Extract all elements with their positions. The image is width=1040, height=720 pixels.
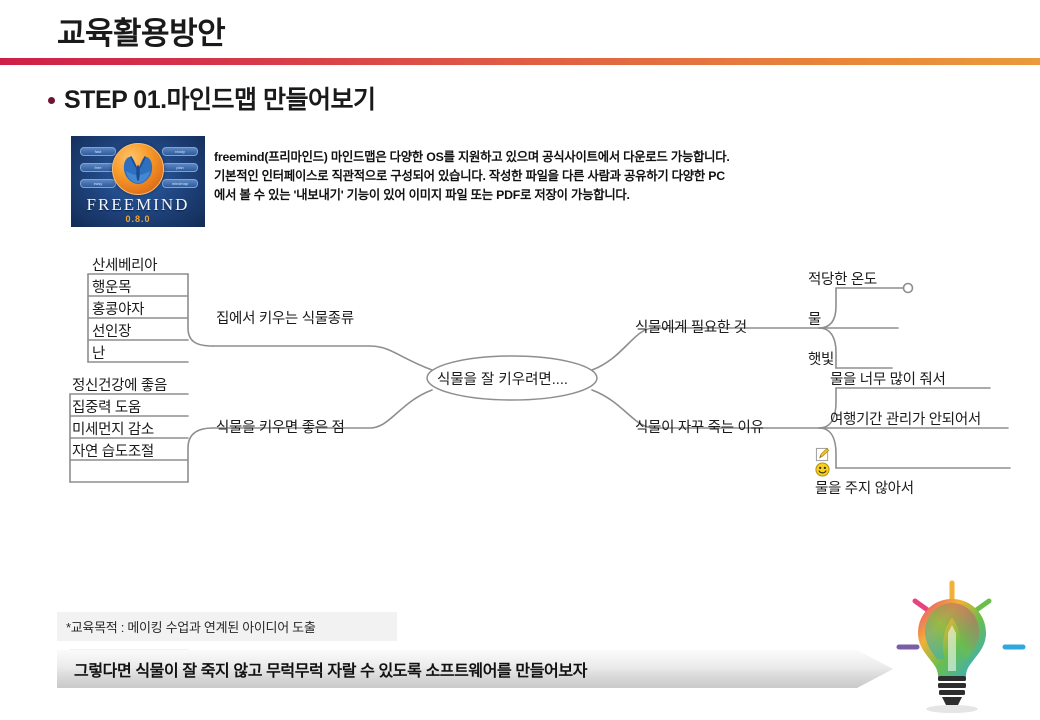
conclusion-banner: 그렇다면 식물이 잘 죽지 않고 무럭무럭 자랄 수 있도록 소프트웨어를 만들… [57,650,893,688]
freemind-logo: fast free easy ready plan mindmap FREEMI… [70,135,206,228]
step-heading-label: STEP 01.마인드맵 만들어보기 [64,80,376,116]
logo-pill-easy: easy [80,179,116,188]
description-line-3: 에서 볼 수 있는 '내보내기' 기능이 있어 이미지 파일 또는 PDF로 저… [214,186,854,205]
description-line-2: 기본적인 인터페이스로 직관적으로 구성되어 있습니다. 작성한 파일을 다른 … [214,167,854,186]
mindmap-leaf-plant-types-2[interactable]: 홍콩야자 [92,298,144,319]
purpose-note-text: *교육목적 : 메이킹 수업과 연계된 아이디어 도출 [66,617,315,636]
mindmap-leaf-plant-types-3[interactable]: 선인장 [92,320,131,341]
lightbulb-icon [885,575,1035,717]
logo-pill-fast: fast [80,147,116,156]
logo-version: 0.8.0 [71,214,205,224]
logo-pill-plan: plan [162,163,198,172]
mindmap-branch-plant-benefits[interactable]: 식물을 키우면 좋은 점 [216,416,345,437]
note-pencil-icon [815,447,830,462]
mindmap-leaf-death-reasons-2-row[interactable]: 물을 주지 않아서 [815,447,914,498]
mindmap-leaf-death-reasons-2: 물을 주지 않아서 [815,481,914,497]
mindmap-leaf-plant-types-4[interactable]: 난 [92,342,105,363]
logo-orb [112,143,164,195]
freemind-description: freemind(프리마인드) 마인드맵은 다양한 OS를 지원하고 있으며 공… [214,148,854,205]
logo-pill-mindmap: mindmap [162,179,198,188]
mindmap-leaf-plant-benefits-2[interactable]: 미세먼지 감소 [72,418,154,439]
title-divider-rule [0,58,1040,65]
page-title: 교육활용방안 [57,8,225,53]
purpose-note: *교육목적 : 메이킹 수업과 연계된 아이디어 도출 [57,612,397,641]
mindmap-leaf-death-reasons-0[interactable]: 물을 너무 많이 줘서 [830,368,946,389]
mindmap-leaf-death-reasons-1[interactable]: 여행기간 관리가 안되어서 [830,408,981,429]
node-endpoint-dot [904,284,913,293]
butterfly-icon [119,151,157,187]
smiley-icon [815,462,830,477]
logo-pill-free: free [80,163,116,172]
logo-wordmark: FREEMIND [71,195,205,215]
lightbulb-graphic [885,575,1035,717]
mindmap-leaf-plant-types-1[interactable]: 행운목 [92,276,131,297]
mindmap-leaf-plant-benefits-1[interactable]: 집중력 도움 [72,396,141,417]
mindmap-branch-plant-types[interactable]: 집에서 키우는 식물종류 [216,307,354,328]
mindmap-branch-death-reasons[interactable]: 식물이 자꾸 죽는 이유 [635,416,764,437]
slide-root: 교육활용방안 STEP 01.마인드맵 만들어보기 fast free easy… [0,0,1040,720]
mindmap-leaf-plant-needs-2[interactable]: 햇빛 [808,348,834,369]
mindmap-leaf-plant-needs-0[interactable]: 적당한 온도 [808,268,877,289]
mindmap-diagram: 식물을 잘 키우려면.... 집에서 키우는 식물종류 산세베리아 행운목 홍콩… [40,250,1030,570]
conclusion-banner-text: 그렇다면 식물이 잘 죽지 않고 무럭무럭 자랄 수 있도록 소프트웨어를 만들… [74,657,587,681]
logo-pill-ready: ready [162,147,198,156]
mindmap-leaf-plant-types-0[interactable]: 산세베리아 [92,254,157,275]
mindmap-branch-plant-needs[interactable]: 식물에게 필요한 것 [635,316,747,337]
mindmap-leaf-plant-benefits-0[interactable]: 정신건강에 좋음 [72,374,167,395]
mindmap-leaf-plant-needs-1[interactable]: 물 [808,308,821,329]
bullet-icon [48,97,55,104]
step-heading: STEP 01.마인드맵 만들어보기 [48,80,376,116]
mindmap-center-node[interactable]: 식물을 잘 키우려면.... [437,368,568,389]
mindmap-leaf-plant-benefits-3[interactable]: 자연 습도조절 [72,440,154,461]
description-line-1: freemind(프리마인드) 마인드맵은 다양한 OS를 지원하고 있으며 공… [214,148,854,167]
